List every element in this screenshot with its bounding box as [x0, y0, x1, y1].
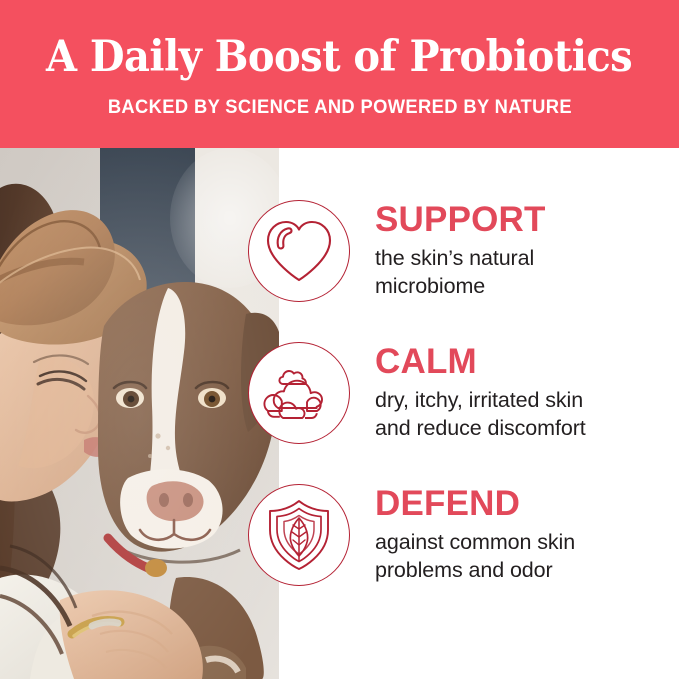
feature-desc-line: the skin’s natural: [375, 245, 679, 273]
feature-item-defend: DEFEND against common skin problems and …: [243, 470, 679, 586]
feature-text-support: SUPPORT the skin’s natural microbiome: [355, 186, 679, 300]
feature-desc-line: dry, itchy, irritated skin: [375, 387, 679, 415]
hero-photo: [0, 148, 279, 679]
feature-title-calm: CALM: [375, 344, 679, 379]
heart-icon: [262, 216, 336, 286]
feature-icon-wrap-defend: [243, 470, 355, 586]
feature-item-support: SUPPORT the skin’s natural microbiome: [243, 186, 679, 302]
feature-icon-wrap-calm: [243, 328, 355, 444]
feature-desc-line: against common skin: [375, 529, 679, 557]
feature-desc-line: problems and odor: [375, 557, 679, 585]
header-banner: A Daily Boost of Probiotics BACKED BY SC…: [0, 0, 679, 148]
feature-title-defend: DEFEND: [375, 486, 679, 521]
hero-photo-illustration: [0, 148, 279, 679]
shield-leaf-icon: [266, 498, 332, 572]
clouds-icon: [261, 362, 337, 424]
icon-circle-defend: [248, 484, 350, 586]
feature-list: SUPPORT the skin’s natural microbiome: [243, 186, 679, 612]
page-subtitle: BACKED BY SCIENCE AND POWERED BY NATURE: [107, 96, 571, 119]
feature-text-calm: CALM dry, itchy, irritated skin and redu…: [355, 328, 679, 442]
page-title: A Daily Boost of Probiotics: [46, 35, 632, 80]
icon-circle-support: [248, 200, 350, 302]
icon-circle-calm: [248, 342, 350, 444]
feature-desc-support: the skin’s natural microbiome: [375, 245, 679, 300]
feature-title-support: SUPPORT: [375, 202, 679, 237]
feature-desc-defend: against common skin problems and odor: [375, 529, 679, 584]
feature-icon-wrap-support: [243, 186, 355, 302]
probiotics-infographic: A Daily Boost of Probiotics BACKED BY SC…: [0, 0, 679, 679]
feature-item-calm: CALM dry, itchy, irritated skin and redu…: [243, 328, 679, 444]
feature-desc-calm: dry, itchy, irritated skin and reduce di…: [375, 387, 679, 442]
feature-desc-line: and reduce discomfort: [375, 415, 679, 443]
feature-text-defend: DEFEND against common skin problems and …: [355, 470, 679, 584]
feature-desc-line: microbiome: [375, 273, 679, 301]
